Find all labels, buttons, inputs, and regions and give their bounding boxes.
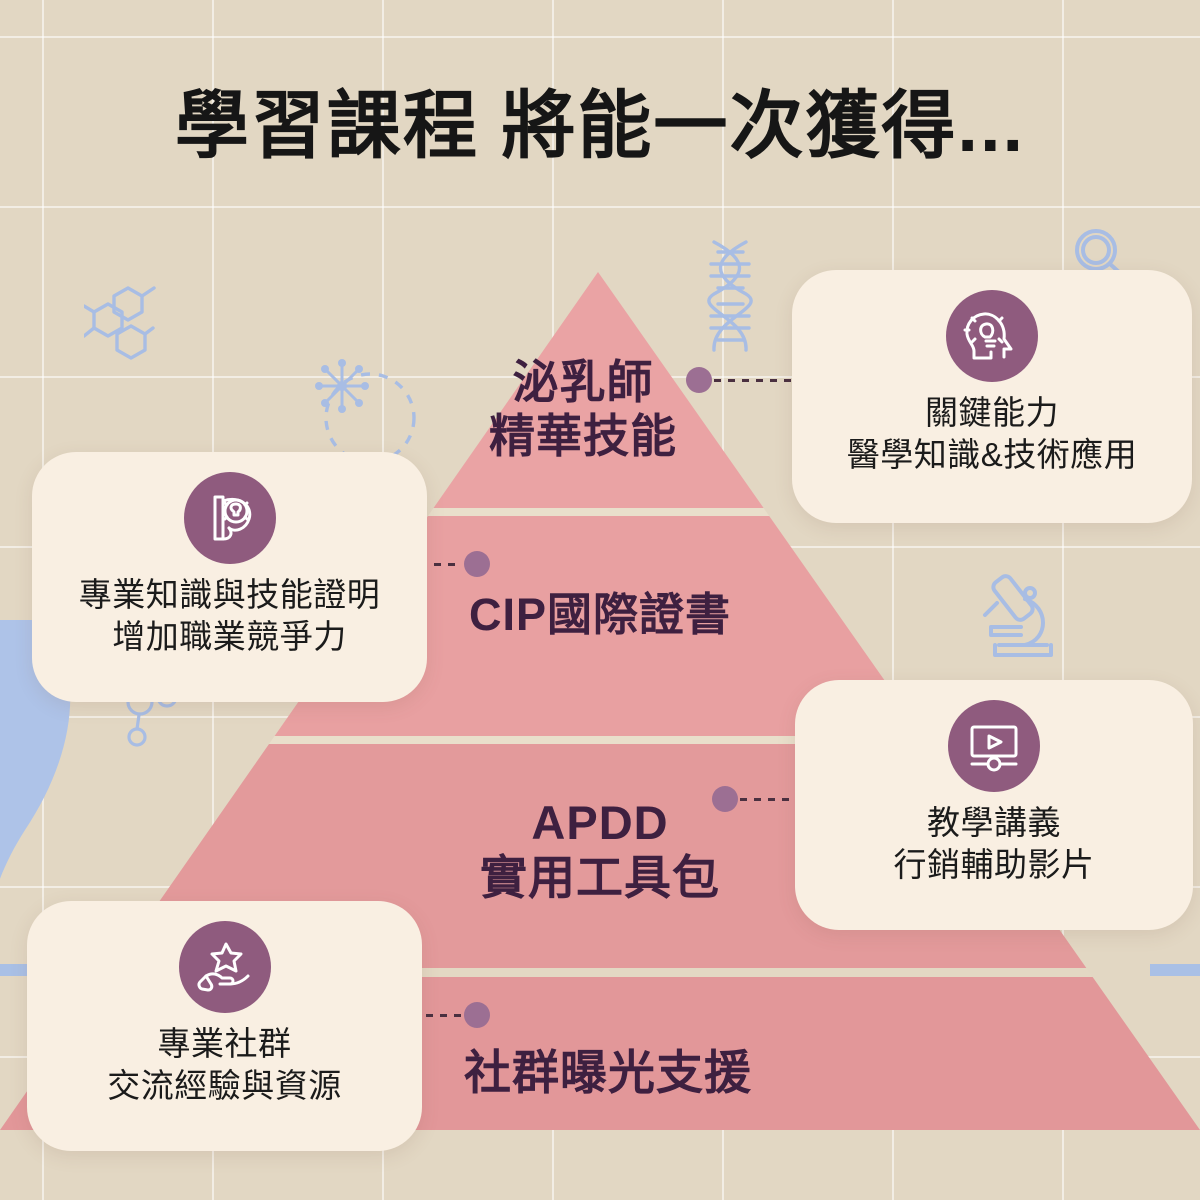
callout-card-text: 關鍵能力 醫學知識&技術應用 bbox=[847, 392, 1138, 476]
page-title: 學習課程 將能一次獲得... bbox=[0, 66, 1200, 173]
callout-card-key-ability[interactable]: 關鍵能力 醫學知識&技術應用 bbox=[792, 270, 1192, 523]
head-lightbulb-icon bbox=[946, 290, 1038, 382]
callout-card-text: 專業社群 交流經驗與資源 bbox=[107, 1023, 342, 1107]
pyramid-tier-label-4: 社群曝光支援 bbox=[408, 1045, 808, 1100]
pyramid-tier-label-2: CIP國際證書 bbox=[400, 588, 800, 641]
callout-card-materials[interactable]: 教學講義 行銷輔助影片 bbox=[795, 680, 1193, 930]
callout-card-certification[interactable]: 專業知識與技能證明 增加職業競爭力 bbox=[32, 452, 427, 702]
callout-card-text: 教學講義 行銷輔助影片 bbox=[894, 802, 1095, 886]
infographic-canvas: 學習課程 將能一次獲得... 泌乳師 精華技能 CIP國際證書 APDD 實用工… bbox=[0, 0, 1200, 1200]
connector-tier2-to-card bbox=[420, 551, 490, 577]
connector-dot bbox=[712, 786, 738, 812]
connector-dot bbox=[464, 1002, 490, 1028]
callout-card-community[interactable]: 專業社群 交流經驗與資源 bbox=[27, 901, 422, 1151]
connector-tier4-to-card bbox=[412, 1002, 490, 1028]
video-player-icon bbox=[948, 700, 1040, 792]
connector-dot bbox=[686, 367, 712, 393]
connector-dot bbox=[464, 551, 490, 577]
hand-star-icon bbox=[179, 921, 271, 1013]
certificate-lightbulb-icon bbox=[184, 472, 276, 564]
callout-card-text: 專業知識與技能證明 增加職業競爭力 bbox=[79, 574, 381, 658]
